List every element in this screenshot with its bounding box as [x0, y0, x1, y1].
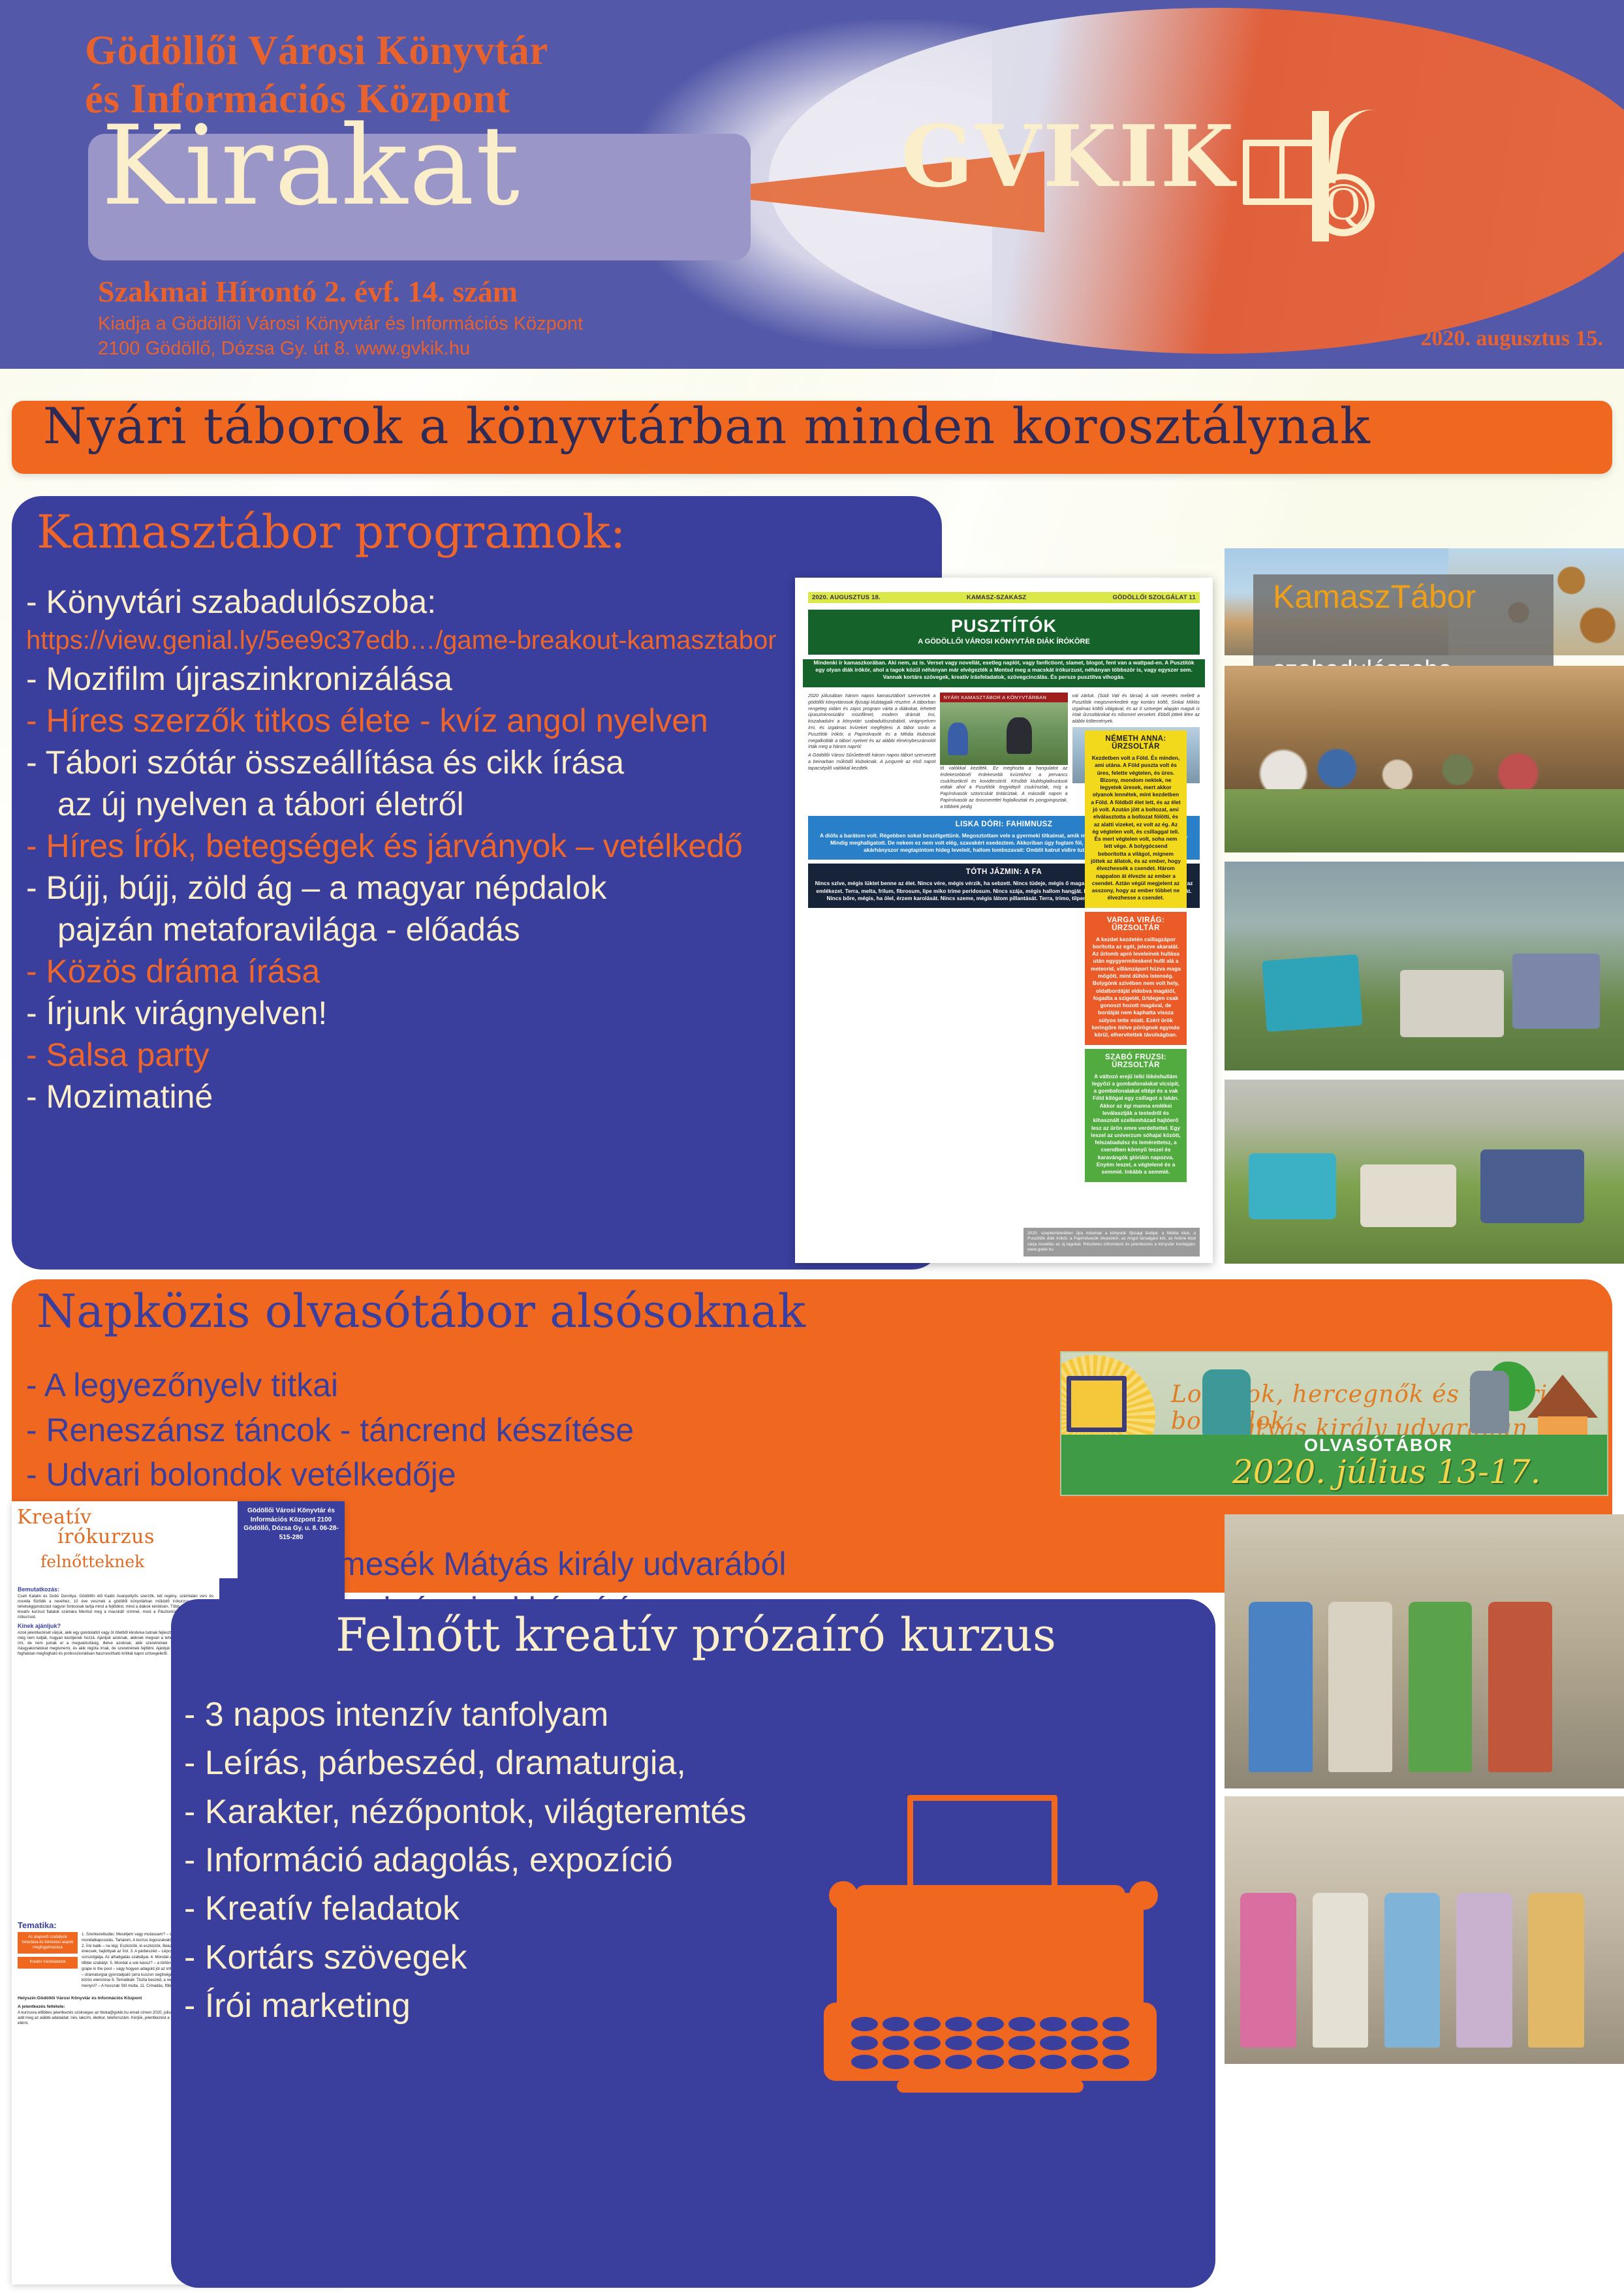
olvasotabor-poster: Lovagok, hercegnők és udvari bolondok Má…	[1060, 1351, 1608, 1496]
felnott-program-list: - 3 napos intenzív tanfolyam - Leírás, p…	[184, 1691, 837, 2031]
newspaper-clipping: 2020. AUGUSZTUS 18. KAMASZ-SZAKASZ GÖDÖL…	[795, 578, 1213, 1263]
list-item: - Kreatív feladatok	[184, 1884, 837, 1933]
poem-box: VARGA VIRÁG: ŰRZSOLTÁR A kezdet kezdetén…	[1085, 912, 1187, 1045]
typewriter-key	[851, 2055, 878, 2069]
typewriter-key	[882, 2017, 909, 2031]
felnott-panel: Felnőtt kreatív prózaíró kurzus - 3 napo…	[171, 1599, 1215, 2288]
publisher-info: Kiadja a Gödöllői Városi Könyvtár és Inf…	[98, 312, 583, 361]
camp-group-photo	[940, 702, 1067, 765]
poster-date: 2020. július 13-17.	[1232, 1453, 1541, 1491]
newspaper-paragraph: 2020 júliusában három napos kamasztábort…	[808, 693, 935, 750]
list-item: - Karakter, nézőpontok, világteremtés	[184, 1788, 837, 1836]
typewriter-key	[1040, 2017, 1067, 2031]
typewriter-key	[976, 2055, 1003, 2069]
typewriter-key	[1071, 2055, 1098, 2069]
typewriter-key	[1008, 2036, 1035, 2050]
list-item: - Leírás, párbeszéd, dramaturgia,	[184, 1739, 837, 1787]
typewriter-key	[945, 2036, 972, 2050]
newspaper-subhead: A GÖDÖLLŐI VÁROSI KÖNYVTÁR DIÁK ÍRÓKÖRE	[816, 638, 1192, 647]
camp-participants	[1257, 729, 1592, 792]
typewriter-key	[851, 2036, 878, 2050]
list-item: - Reneszánsz táncok - táncrend készítése	[26, 1408, 1070, 1453]
poem-body: Kezdetben volt a Föld. És minden, ami ut…	[1091, 755, 1181, 902]
poem-title: NÉMETH ANNA: ŰRZSOLTÁR	[1091, 735, 1181, 751]
typewriter-keys	[851, 2017, 1129, 2072]
newspaper-date: 2020. AUGUSZTUS 18.	[812, 594, 881, 601]
typewriter-key	[1102, 2036, 1129, 2050]
child-figure	[1409, 1602, 1473, 1771]
typewriter-key	[914, 2017, 941, 2031]
page-header: Gödöllői Városi Könyvtár és Információs …	[0, 0, 1624, 369]
child-figure	[1328, 1602, 1392, 1771]
poem-box: SZABÓ FRUZSI: ŰRZSOLTÁR A változó erejű …	[1085, 1049, 1187, 1182]
camp-lounge-photo	[1225, 1080, 1624, 1264]
newspaper-photo-caption: NYÁRI KAMASZTÁBOR A KÖNYVTÁRBAN	[940, 693, 1067, 702]
deck-chair	[1262, 954, 1363, 1032]
felnott-panel-title: Felnőtt kreatív prózaíró kurzus	[187, 1612, 1205, 1658]
newspaper-paragraph: A Gödöllői Városi Sűrűetterdő három napo…	[808, 752, 935, 771]
newspaper-headline: PUSZTÍTÓK	[816, 616, 1192, 636]
kids-group-photo	[1225, 1796, 1624, 2064]
newspaper-footer-note: 2020. szeptemberében újra indulnak a kön…	[1023, 1228, 1200, 1256]
open-book-icon	[1243, 140, 1321, 205]
list-item: - Információ adagolás, expozíció	[184, 1836, 837, 1884]
kids-knights-photo	[1225, 1514, 1624, 1788]
newspaper-column-1: 2020 júliusában három napos kamasztábort…	[808, 693, 935, 811]
poem-body: A kezdet kezdetén csillagzápor borította…	[1091, 936, 1181, 1039]
flyer-title-line1: Kreatív	[17, 1508, 232, 1527]
child-figure	[1249, 1602, 1313, 1771]
lounge-chair	[1360, 1164, 1456, 1227]
flyer-org-block: Gödöllői Városi Könyvtár és Információs …	[238, 1501, 345, 1578]
napkozis-panel-title: Napközis olvasótábor alsósoknak	[37, 1288, 805, 1334]
child-figure	[1488, 1602, 1552, 1771]
poem-body: A változó erejű lelki lökéshullám legyőz…	[1091, 1073, 1181, 1176]
library-emblem-icon: Q	[1234, 111, 1390, 242]
newspaper-running-head: 2020. AUGUSZTUS 18. KAMASZ-SZAKASZ GÖDÖL…	[808, 592, 1200, 603]
typewriter-key	[1040, 2055, 1067, 2069]
typewriter-key	[1008, 2055, 1035, 2069]
emblem-q-letter: Q	[1312, 174, 1375, 236]
typewriter-key	[1071, 2036, 1098, 2050]
typewriter-key	[976, 2036, 1003, 2050]
typewriter-spacebar	[897, 2080, 1084, 2093]
publisher-line-1: Kiadja a Gödöllői Városi Könyvtár és Inf…	[98, 312, 583, 337]
typewriter-key	[882, 2055, 909, 2069]
newspaper-right-column: NÉMETH ANNA: ŰRZSOLTÁR Kezdetben volt a …	[1072, 726, 1200, 1182]
typewriter-key	[1102, 2017, 1129, 2031]
child-figure	[1384, 1893, 1441, 2048]
typewriter-key	[1102, 2055, 1129, 2069]
child-figure	[1456, 1893, 1512, 2048]
flyer-header: Kreatív írókurzus felnőtteknek Gödöllői …	[12, 1501, 345, 1578]
org-title-line1: Gödöllői Városi Könyvtár	[85, 26, 835, 74]
newspaper-paragraph: tő valókkal kezdték. Ez meghozta a hangu…	[940, 765, 1067, 809]
camp-indoor-photo	[1225, 666, 1624, 852]
lounge-chair	[1249, 1153, 1337, 1220]
main-banner: Nyári táborok a könyvtárban minden koros…	[12, 401, 1612, 474]
newspaper-section: KAMASZ-SZAKASZ	[967, 594, 1026, 601]
typewriter-key	[1008, 2017, 1035, 2031]
flyer-title-block: Kreatív írókurzus felnőtteknek	[12, 1501, 238, 1578]
flyer-badge-creative: Kreatív írásfeladatok	[18, 1957, 78, 1969]
typewriter-key	[914, 2055, 941, 2069]
flyer-apply-heading: A jelentkezés feltétele:	[18, 2004, 65, 2009]
tower-roof	[1527, 1375, 1598, 1418]
typewriter-key	[851, 2017, 878, 2031]
child-figure	[1240, 1893, 1296, 2048]
kamasz-panel-title: Kamasztábor programok:	[37, 509, 625, 555]
deck-chair	[1400, 970, 1504, 1037]
child-figure	[1528, 1893, 1584, 2048]
main-banner-title: Nyári táborok a könyvtárban minden koros…	[43, 397, 1371, 455]
typewriter-key	[976, 2017, 1003, 2031]
escape-room-title: KamaszTábor	[1273, 578, 1560, 616]
book-icon	[1067, 1376, 1127, 1432]
newspaper-masthead: PUSZTÍTÓK A GÖDÖLLŐI VÁROSI KÖNYVTÁR DIÁ…	[808, 610, 1200, 655]
flyer-badge-basics: Az alapvető szabályok betartása és kiind…	[18, 1932, 78, 1954]
gvkik-logo-text: GVKIK	[901, 114, 1236, 199]
issue-date: 2020. augusztus 15.	[1420, 326, 1603, 351]
flyer-title-line3: felnőtteknek	[40, 1552, 232, 1571]
typewriter-icon	[824, 1795, 1163, 2102]
jester-icon	[1202, 1369, 1251, 1437]
poem-title: SZABÓ FRUZSI: ŰRZSOLTÁR	[1091, 1053, 1181, 1069]
list-item: - Kortárs szövegek	[184, 1933, 837, 1982]
deck-chair	[1512, 954, 1601, 1029]
typewriter-key	[1071, 2017, 1098, 2031]
flyer-intro-heading: Bemutatkozás:	[18, 1586, 213, 1593]
typewriter-key	[1040, 2036, 1067, 2050]
typewriter-key	[945, 2017, 972, 2031]
lounge-chair	[1480, 1149, 1584, 1223]
poem-box: NÉMETH ANNA: ŰRZSOLTÁR Kezdetben volt a …	[1085, 730, 1187, 908]
child-figure	[1313, 1893, 1369, 2048]
flyer-badges-column: Az alapvető szabályok betartása és kiind…	[18, 1932, 78, 1989]
newspaper-column-2: NYÁRI KAMASZTÁBOR A KÖNYVTÁRBAN tő valók…	[940, 693, 1067, 811]
flyer-venue: Helyszín:Gödöllői Városi Könyvtár és Inf…	[18, 1996, 142, 2001]
list-item: - 3 napos intenzív tanfolyam	[184, 1691, 837, 1739]
typewriter-key	[914, 2036, 941, 2050]
camp-deckchairs-photo	[1225, 862, 1624, 1070]
flyer-title-line2: írókurzus	[57, 1527, 232, 1547]
poem-title: VARGA VIRÁG: ŰRZSOLTÁR	[1091, 916, 1181, 932]
list-item: - Udvari bolondok vetélkedője	[26, 1452, 1070, 1497]
typewriter-paper	[907, 1795, 1057, 1893]
issue-subtitle: Szakmai Hírontó 2. évf. 14. szám	[98, 274, 518, 309]
typewriter-body	[837, 1893, 1144, 2010]
masthead-title: Kirakat	[101, 111, 819, 221]
newspaper-paragraph: val zártuk. (Südi Vali és társai) A sok …	[1072, 693, 1200, 725]
list-item: - Írói marketing	[184, 1982, 837, 2030]
newspaper-lead-paragraph: Mindenki ír kamaszkorában. Aki nem, az i…	[803, 659, 1205, 687]
grass-mat	[1225, 789, 1624, 852]
newspaper-page: GÖDÖLLŐI SZOLGÁLAT 11	[1112, 594, 1196, 601]
publisher-line-2: 2100 Gödöllő, Dózsa Gy. út 8. www.gvkik.…	[98, 337, 583, 362]
list-item: - A legyezőnyelv titkai	[26, 1363, 1070, 1408]
typewriter-key	[882, 2036, 909, 2050]
typewriter-key	[945, 2055, 972, 2069]
knight-icon	[1470, 1371, 1509, 1433]
